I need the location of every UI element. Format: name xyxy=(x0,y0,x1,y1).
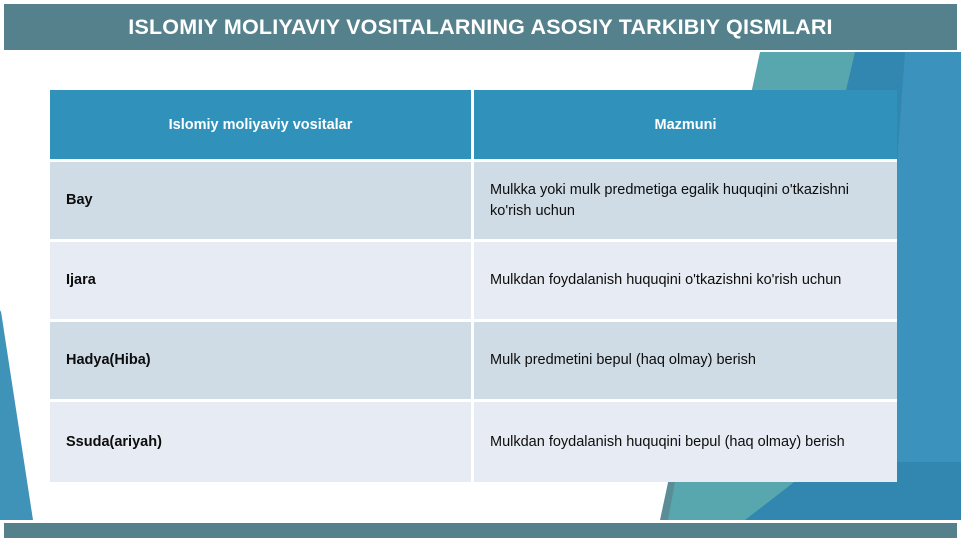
cell-instrument-description: Mulkdan foydalanish huquqini bepul (haq … xyxy=(474,402,897,482)
slide-title-band: ISLOMIY MOLIYAVIY VOSITALARNING ASOSIY T… xyxy=(4,4,957,52)
column-header-content: Mazmuni xyxy=(474,90,897,162)
page-title: ISLOMIY MOLIYAVIY VOSITALARNING ASOSIY T… xyxy=(4,4,957,50)
cell-instrument-name: Ssuda(ariyah) xyxy=(50,402,474,482)
content-table-wrapper: Islomiy moliyaviy vositalar Mazmuni Bay … xyxy=(50,90,897,487)
table-row: Ijara Mulkdan foydalanish huquqini o'tka… xyxy=(50,242,897,322)
table-header-row: Islomiy moliyaviy vositalar Mazmuni xyxy=(50,90,897,162)
islamic-finance-instruments-table: Islomiy moliyaviy vositalar Mazmuni Bay … xyxy=(50,90,897,482)
cell-instrument-description: Mulk predmetini bepul (haq olmay) berish xyxy=(474,322,897,402)
slide-canvas: ISLOMIY MOLIYAVIY VOSITALARNING ASOSIY T… xyxy=(0,0,961,540)
slide-bottom-band xyxy=(0,521,961,540)
table-body: Bay Mulkka yoki mulk predmetiga egalik h… xyxy=(50,162,897,482)
table-row: Ssuda(ariyah) Mulkdan foydalanish huquqi… xyxy=(50,402,897,482)
table-head: Islomiy moliyaviy vositalar Mazmuni xyxy=(50,90,897,162)
column-header-instruments: Islomiy moliyaviy vositalar xyxy=(50,90,474,162)
cell-instrument-name: Hadya(Hiba) xyxy=(50,322,474,402)
cell-instrument-name: Ijara xyxy=(50,242,474,322)
bottom-band-fill xyxy=(4,523,957,538)
table-row: Hadya(Hiba) Mulk predmetini bepul (haq o… xyxy=(50,322,897,402)
cell-instrument-description: Mulkdan foydalanish huquqini o'tkazishni… xyxy=(474,242,897,322)
cell-instrument-description: Mulkka yoki mulk predmetiga egalik huquq… xyxy=(474,162,897,242)
table-row: Bay Mulkka yoki mulk predmetiga egalik h… xyxy=(50,162,897,242)
cell-instrument-name: Bay xyxy=(50,162,474,242)
